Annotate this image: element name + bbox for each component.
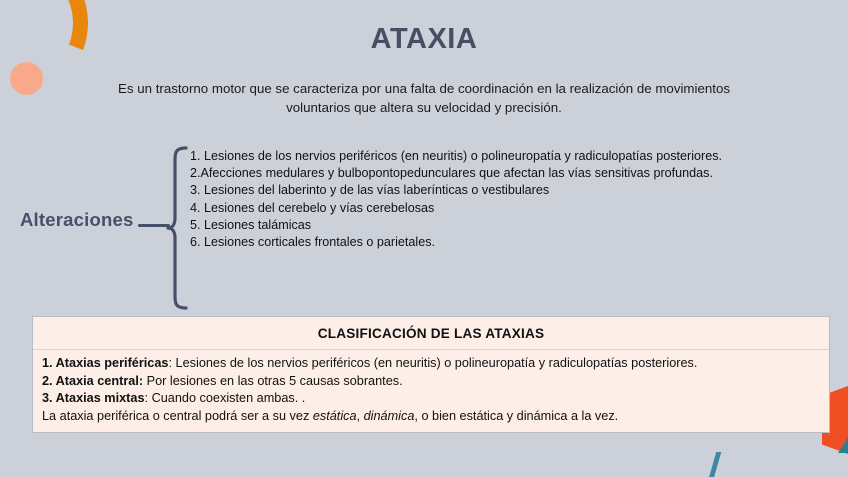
- classification-row: 2. Ataxia central: Por lesiones en las o…: [42, 373, 820, 391]
- classification-row: 1. Ataxias periféricas: Lesiones de los …: [42, 355, 820, 373]
- page-title: ATAXIA: [0, 23, 848, 56]
- footnote-italic-dinamica: dinámica: [364, 409, 415, 423]
- classification-text: Por lesiones en las otras 5 causas sobra…: [147, 374, 403, 388]
- classification-header: CLASIFICACIÓN DE LAS ATAXIAS: [33, 317, 829, 350]
- classification-term: 3. Ataxias mixtas: [42, 391, 145, 405]
- curly-brace-icon: [166, 146, 188, 310]
- classification-term: 1. Ataxias periféricas: [42, 356, 168, 370]
- classification-separator: :: [145, 391, 152, 405]
- cause-item: 3. Lesiones del laberinto y de las vías …: [190, 182, 798, 199]
- classification-term: 2. Ataxia central:: [42, 374, 143, 388]
- classification-footnote: La ataxia periférica o central podrá ser…: [42, 408, 820, 426]
- classification-text: Lesiones de los nervios periféricos (en …: [176, 356, 698, 370]
- footnote-tail: , o bien estática y dinámica a la vez.: [414, 409, 618, 423]
- cause-item: 4. Lesiones del cerebelo y vías cerebelo…: [190, 200, 798, 217]
- slide-canvas: ATAXIA Es un trastorno motor que se cara…: [0, 0, 848, 477]
- salmon-circle-icon: [10, 62, 43, 95]
- cause-item: 2.Afecciones medulares y bulbopontopedun…: [190, 165, 798, 182]
- cause-item: 6. Lesiones corticales frontales o parie…: [190, 234, 798, 251]
- causes-list: 1. Lesiones de los nervios periféricos (…: [190, 148, 798, 251]
- classification-row: 3. Ataxias mixtas: Cuando coexisten amba…: [42, 390, 820, 408]
- cause-item: 5. Lesiones talámicas: [190, 217, 798, 234]
- classification-panel: CLASIFICACIÓN DE LAS ATAXIAS 1. Ataxias …: [32, 316, 830, 433]
- footnote-mid: ,: [357, 409, 364, 423]
- teal-slash-icon: [708, 452, 722, 477]
- alteraciones-label: Alteraciones: [20, 209, 133, 231]
- cause-item: 1. Lesiones de los nervios periféricos (…: [190, 148, 798, 165]
- footnote-italic-estatica: estática: [313, 409, 357, 423]
- classification-body: 1. Ataxias periféricas: Lesiones de los …: [33, 350, 829, 432]
- footnote-lead: La ataxia periférica o central podrá ser…: [42, 409, 313, 423]
- classification-text: Cuando coexisten ambas. .: [152, 391, 306, 405]
- classification-separator: :: [168, 356, 175, 370]
- slide-subtitle: Es un trastorno motor que se caracteriza…: [90, 79, 758, 117]
